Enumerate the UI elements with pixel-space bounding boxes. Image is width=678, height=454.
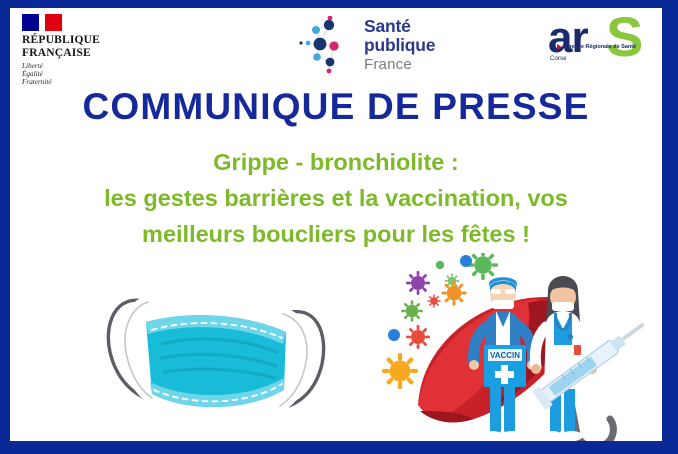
vaccine-box: VACCIN bbox=[484, 345, 526, 387]
ars-dot-icon bbox=[550, 45, 555, 50]
page-title: COMMUNIQUE DE PRESSE bbox=[10, 86, 662, 128]
republique-line-1: RÉPUBLIQUE bbox=[22, 34, 142, 47]
sante-publique-france-logo: Santé publique France bbox=[299, 16, 435, 74]
spf-line-2: publique bbox=[364, 36, 435, 55]
network-dots-icon bbox=[299, 16, 357, 74]
subtitle-line-3: meilleurs boucliers pour les fêtes ! bbox=[40, 216, 632, 252]
motto-liberte: Liberté bbox=[22, 62, 142, 70]
ars-region-label: Corse bbox=[550, 55, 567, 62]
logo-header: RÉPUBLIQUE FRANÇAISE Liberté Égalité Fra… bbox=[10, 8, 662, 86]
ars-arrow-icon bbox=[557, 44, 562, 50]
ars-agency-line: Agence Régionale de Santé bbox=[550, 44, 642, 50]
press-release-poster: RÉPUBLIQUE FRANÇAISE Liberté Égalité Fra… bbox=[0, 0, 678, 454]
surgical-mask-icon bbox=[70, 270, 350, 441]
poster-canvas: RÉPUBLIQUE FRANÇAISE Liberté Égalité Fra… bbox=[10, 8, 662, 441]
subtitle-line-2: les gestes barrières et la vaccination, … bbox=[40, 180, 632, 216]
vaccination-illustration: VACCIN bbox=[378, 253, 662, 441]
republique-line-2: FRANÇAISE bbox=[22, 47, 142, 60]
vaccine-box-label: VACCIN bbox=[490, 351, 520, 360]
spf-line-1: Santé bbox=[364, 17, 435, 36]
subtitle: Grippe - bronchiolite : les gestes barri… bbox=[40, 144, 632, 252]
sante-publique-wordmark: Santé publique France bbox=[364, 17, 435, 74]
republique-francaise-logo: RÉPUBLIQUE FRANÇAISE Liberté Égalité Fra… bbox=[22, 14, 142, 87]
svg-text:S: S bbox=[606, 12, 643, 62]
ars-agency-label: Agence Régionale de Santé bbox=[564, 44, 636, 50]
surgical-mask-illustration bbox=[70, 270, 350, 441]
ars-logo: ar S Agence Régionale de Santé Corse bbox=[546, 12, 658, 74]
motto-egalite: Égalité bbox=[22, 70, 142, 78]
umbrella-protection-icon: VACCIN bbox=[378, 253, 662, 441]
spf-line-3: France bbox=[364, 55, 435, 74]
french-flag-icon bbox=[22, 14, 74, 31]
subtitle-line-1: Grippe - bronchiolite : bbox=[40, 144, 632, 180]
